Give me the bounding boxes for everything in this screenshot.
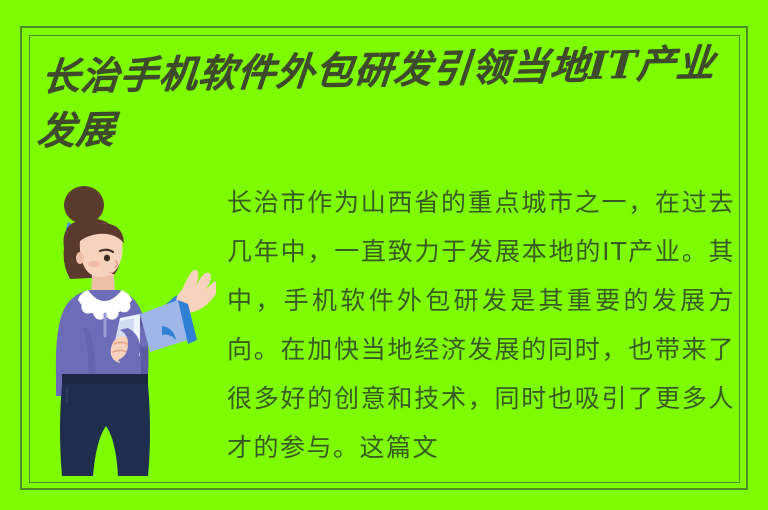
ear-shape [76, 252, 84, 264]
page-title: 长治手机软件外包研发引领当地IT产业发展 [35, 35, 745, 158]
eye-shape [104, 255, 110, 262]
collar-scallop-shape [105, 306, 118, 319]
article-card: 长治手机软件外包研发引领当地IT产业发展 [0, 0, 768, 510]
collar-scallop-shape [118, 300, 131, 313]
woman-with-megaphone-illustration [36, 178, 216, 490]
blush-shape [88, 261, 100, 268]
pants-shape [60, 384, 150, 476]
article-body-text: 长治市作为山西省的重点城市之一，在过去几年中，一直致力于发展本地的IT产业。其中… [227, 178, 735, 478]
collar-scallop-shape [81, 300, 94, 313]
hair-bun-shape [64, 186, 104, 224]
